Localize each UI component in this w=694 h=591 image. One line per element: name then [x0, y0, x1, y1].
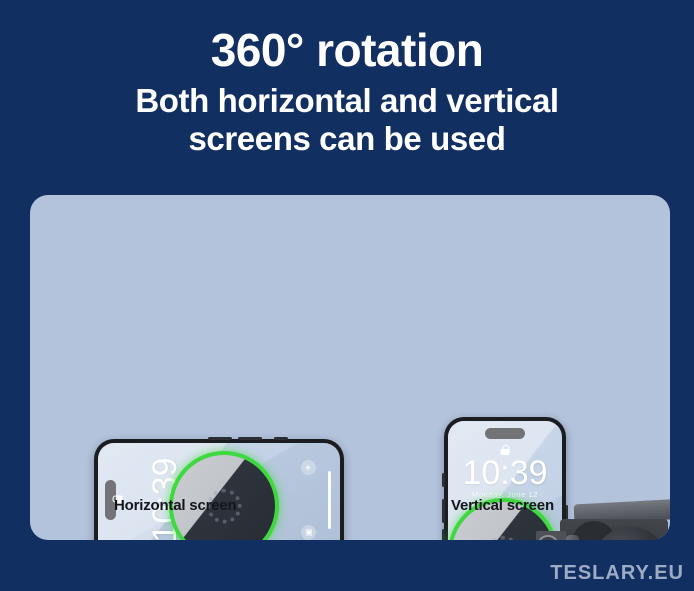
caption-vertical-screen: Vertical screen — [451, 497, 554, 514]
phone-volume-up-button — [238, 437, 262, 440]
page-title: 360° rotation — [0, 24, 694, 76]
subtitle-line-2: screens can be used — [0, 120, 694, 158]
home-indicator — [328, 471, 332, 529]
heading-block: 360° rotation Both horizontal and vertic… — [0, 24, 694, 158]
dynamic-island — [485, 428, 525, 439]
mount-hardware-vertical — [560, 501, 670, 540]
lockscreen-clock-vertical: 10:39 — [448, 454, 562, 493]
watermark: TESLARY.EU — [550, 562, 684, 585]
product-showcase-panel: 10:39 Monday, June 12 ☀ ▣ — [30, 195, 670, 540]
phone-mute-switch — [274, 437, 288, 440]
phone-volume-down-button — [208, 437, 232, 440]
charging-coil-icon — [486, 536, 521, 540]
product-feature-image: 360° rotation Both horizontal and vertic… — [0, 0, 694, 591]
phone-mute-switch — [442, 473, 445, 487]
caption-horizontal-screen: Horizontal screen — [114, 497, 236, 514]
phone-volume-up-button — [442, 499, 445, 523]
flashlight-icon[interactable]: ☀ — [301, 460, 316, 475]
phone-volume-down-button — [442, 529, 445, 540]
mount-support-rod — [566, 535, 579, 540]
camera-icon[interactable]: ▣ — [301, 525, 316, 540]
subtitle-line-1: Both horizontal and vertical — [0, 76, 694, 120]
